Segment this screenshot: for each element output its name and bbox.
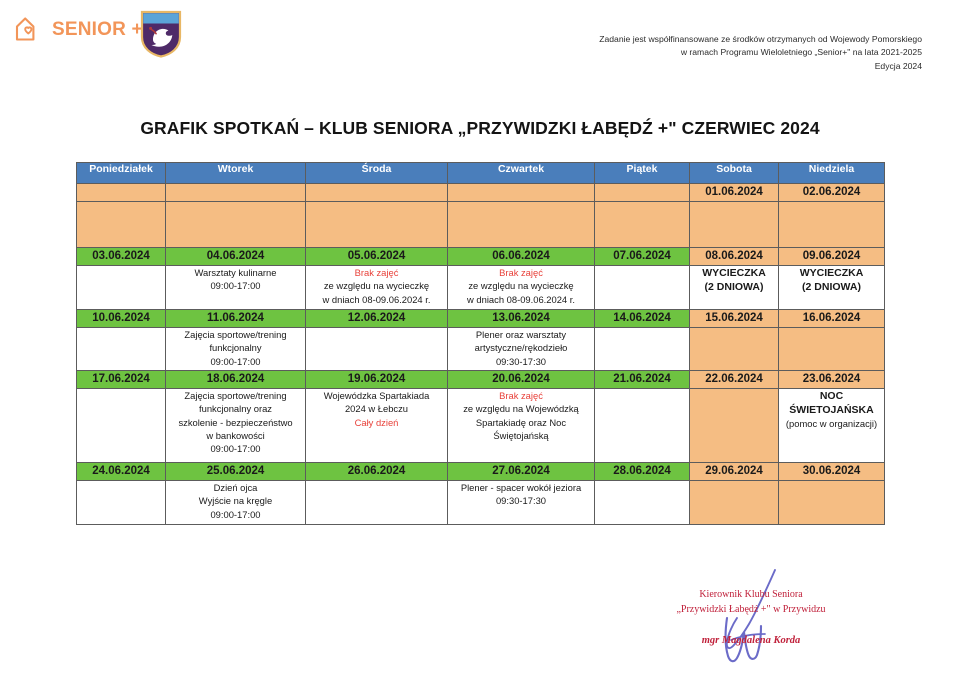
event-line: (2 DNIOWA) — [779, 280, 884, 294]
date-cell: 05.06.2024 — [306, 248, 448, 266]
signature-name: mgr Magdalena Korda — [596, 635, 906, 646]
date-cell: 28.06.2024 — [595, 463, 690, 481]
date-cell: 26.06.2024 — [306, 463, 448, 481]
event-line: WYCIECZKA — [690, 266, 778, 280]
event-cell — [77, 481, 166, 525]
event-line: Plener - spacer wokół jeziora — [448, 481, 594, 494]
date-cell: 06.06.2024 — [448, 248, 595, 266]
event-cell: Zajęcia sportowe/treningfunkcjonalny ora… — [166, 389, 306, 463]
event-cell — [779, 481, 885, 525]
week-date-row: 10.06.202411.06.202412.06.202413.06.2024… — [77, 310, 885, 328]
event-line: ŚWIETOJAŃSKA — [779, 403, 884, 417]
event-line: w dniach 08-09.06.2024 r. — [448, 293, 594, 306]
event-line: Brak zajęć — [306, 266, 447, 279]
brand-label: SENIOR + — [52, 20, 143, 39]
page-title: GRAFIK SPOTKAŃ – KLUB SENIORA „PRZYWIDZK… — [0, 118, 960, 139]
event-cell — [306, 481, 448, 525]
event-line: (pomoc w organizacji) — [779, 417, 884, 430]
column-header-niedziela: Niedziela — [779, 163, 885, 184]
event-cell — [77, 202, 166, 248]
handwritten-signature-icon — [671, 566, 841, 674]
event-line: w bankowości — [166, 429, 305, 442]
date-cell: 16.06.2024 — [779, 310, 885, 328]
date-cell: 03.06.2024 — [77, 248, 166, 266]
week-content-row: Dzień ojcaWyjście na kręgle09:00-17:00Pl… — [77, 481, 885, 525]
house-heart-icon — [12, 12, 46, 46]
event-line: Brak zajęć — [448, 266, 594, 279]
event-cell: NOCŚWIETOJAŃSKA(pomoc w organizacji) — [779, 389, 885, 463]
event-cell — [690, 389, 779, 463]
event-line: 09:30-17:30 — [448, 355, 594, 368]
date-cell: 08.06.2024 — [690, 248, 779, 266]
week-date-row: 03.06.202404.06.202405.06.202406.06.2024… — [77, 248, 885, 266]
event-line: ze względu na wycieczkę — [448, 279, 594, 292]
event-cell — [595, 202, 690, 248]
event-line: NOC — [779, 389, 884, 403]
event-line: Spartakiadę oraz Noc — [448, 416, 594, 429]
week-content-row — [77, 202, 885, 248]
event-line: w dniach 08-09.06.2024 r. — [306, 293, 447, 306]
event-cell — [77, 266, 166, 310]
funding-line-1: Zadanie jest współfinansowane ze środków… — [532, 33, 922, 46]
column-header-poniedziałek: Poniedziałek — [77, 163, 166, 184]
event-cell: WYCIECZKA(2 DNIOWA) — [779, 266, 885, 310]
event-line: Dzień ojca — [166, 481, 305, 494]
event-cell — [77, 389, 166, 463]
event-line: Cały dzień — [306, 416, 447, 429]
week-date-row: 01.06.202402.06.2024 — [77, 184, 885, 202]
event-line: artystyczne/rękodzieło — [448, 341, 594, 354]
event-line: Plener oraz warsztaty — [448, 328, 594, 341]
week-date-row: 17.06.202418.06.202419.06.202420.06.2024… — [77, 371, 885, 389]
event-cell — [595, 389, 690, 463]
date-cell — [306, 184, 448, 202]
event-cell: Brak zajęćze względu na wycieczkęw dniac… — [448, 266, 595, 310]
date-cell: 10.06.2024 — [77, 310, 166, 328]
date-cell: 14.06.2024 — [595, 310, 690, 328]
funding-line-3: Edycja 2024 — [532, 60, 922, 73]
schedule-table-wrapper: PoniedziałekWtorekŚrodaCzwartekPiątekSob… — [76, 162, 884, 525]
week-date-row: 24.06.202425.06.202426.06.202427.06.2024… — [77, 463, 885, 481]
date-cell: 30.06.2024 — [779, 463, 885, 481]
event-cell — [306, 328, 448, 371]
date-cell — [166, 184, 306, 202]
funding-statement: Zadanie jest współfinansowane ze środków… — [532, 33, 922, 73]
event-cell — [690, 328, 779, 371]
signature-role-line-1: Kierownik Klubu Seniora — [596, 588, 906, 603]
event-cell — [779, 202, 885, 248]
date-cell: 25.06.2024 — [166, 463, 306, 481]
date-cell: 11.06.2024 — [166, 310, 306, 328]
date-cell: 02.06.2024 — [779, 184, 885, 202]
event-cell: WYCIECZKA(2 DNIOWA) — [690, 266, 779, 310]
event-cell: Plener oraz warsztatyartystyczne/rękodzi… — [448, 328, 595, 371]
date-cell — [448, 184, 595, 202]
event-cell — [690, 481, 779, 525]
date-cell: 18.06.2024 — [166, 371, 306, 389]
event-line: 09:00-17:00 — [166, 355, 305, 368]
date-cell: 01.06.2024 — [690, 184, 779, 202]
date-cell: 24.06.2024 — [77, 463, 166, 481]
event-line: Zajęcia sportowe/trening — [166, 328, 305, 341]
event-line: funkcjonalny — [166, 341, 305, 354]
date-cell: 12.06.2024 — [306, 310, 448, 328]
event-cell — [306, 202, 448, 248]
senior-plus-logo: SENIOR + — [12, 12, 143, 46]
event-cell: Plener - spacer wokół jeziora09:30-17:30 — [448, 481, 595, 525]
event-cell — [595, 266, 690, 310]
signature-role: Kierownik Klubu Seniora „Przywidzki Łabę… — [596, 588, 906, 617]
signature-block: Kierownik Klubu Seniora „Przywidzki Łabę… — [596, 580, 906, 670]
event-line: 2024 w Łebczu — [306, 402, 447, 415]
date-cell: 19.06.2024 — [306, 371, 448, 389]
event-line: 09:00-17:00 — [166, 508, 305, 521]
table-header-row: PoniedziałekWtorekŚrodaCzwartekPiątekSob… — [77, 163, 885, 184]
table-body: 01.06.202402.06.202403.06.202404.06.2024… — [77, 184, 885, 525]
date-cell — [595, 184, 690, 202]
event-line: Warsztaty kulinarne — [166, 266, 305, 279]
event-cell: Brak zajęćze względu na wycieczkęw dniac… — [306, 266, 448, 310]
event-cell — [595, 328, 690, 371]
event-cell — [448, 202, 595, 248]
event-cell: Dzień ojcaWyjście na kręgle09:00-17:00 — [166, 481, 306, 525]
column-header-wtorek: Wtorek — [166, 163, 306, 184]
funding-line-2: w ramach Programu Wieloletniego „Senior+… — [532, 46, 922, 59]
event-line: ze względu na Wojewódzką — [448, 402, 594, 415]
event-line: funkcjonalny oraz — [166, 402, 305, 415]
event-line: Brak zajęć — [448, 389, 594, 402]
event-cell — [77, 328, 166, 371]
table-head: PoniedziałekWtorekŚrodaCzwartekPiątekSob… — [77, 163, 885, 184]
date-cell: 27.06.2024 — [448, 463, 595, 481]
event-line: szkolenie - bezpieczeństwo — [166, 416, 305, 429]
column-header-czwartek: Czwartek — [448, 163, 595, 184]
column-header-piątek: Piątek — [595, 163, 690, 184]
przywidz-coat-of-arms-swan-icon — [139, 9, 183, 59]
event-line: 09:00-17:00 — [166, 442, 305, 455]
date-cell: 07.06.2024 — [595, 248, 690, 266]
date-cell — [77, 184, 166, 202]
column-header-sobota: Sobota — [690, 163, 779, 184]
event-cell: Wojewódzka Spartakiada2024 w ŁebczuCały … — [306, 389, 448, 463]
event-cell: Zajęcia sportowe/treningfunkcjonalny09:0… — [166, 328, 306, 371]
event-line: Wyjście na kręgle — [166, 494, 305, 507]
event-cell — [690, 202, 779, 248]
event-line: WYCIECZKA — [779, 266, 884, 280]
week-content-row: Zajęcia sportowe/treningfunkcjonalny ora… — [77, 389, 885, 463]
date-cell: 04.06.2024 — [166, 248, 306, 266]
event-line: Świętojańską — [448, 429, 594, 442]
event-cell — [779, 328, 885, 371]
event-line: 09:30-17:30 — [448, 494, 594, 507]
column-header-środa: Środa — [306, 163, 448, 184]
date-cell: 21.06.2024 — [595, 371, 690, 389]
event-cell — [595, 481, 690, 525]
event-line: Zajęcia sportowe/trening — [166, 389, 305, 402]
document-header: SENIOR + Zadanie jest współfinansowane z… — [0, 0, 960, 95]
schedule-table: PoniedziałekWtorekŚrodaCzwartekPiątekSob… — [76, 162, 885, 525]
event-cell — [166, 202, 306, 248]
document-page: SENIOR + Zadanie jest współfinansowane z… — [0, 0, 960, 671]
date-cell: 29.06.2024 — [690, 463, 779, 481]
event-cell: Warsztaty kulinarne09:00-17:00 — [166, 266, 306, 310]
date-cell: 15.06.2024 — [690, 310, 779, 328]
date-cell: 13.06.2024 — [448, 310, 595, 328]
event-line: (2 DNIOWA) — [690, 280, 778, 294]
date-cell: 09.06.2024 — [779, 248, 885, 266]
date-cell: 23.06.2024 — [779, 371, 885, 389]
date-cell: 17.06.2024 — [77, 371, 166, 389]
event-cell: Brak zajęćze względu na WojewódzkąSparta… — [448, 389, 595, 463]
date-cell: 20.06.2024 — [448, 371, 595, 389]
week-content-row: Zajęcia sportowe/treningfunkcjonalny09:0… — [77, 328, 885, 371]
date-cell: 22.06.2024 — [690, 371, 779, 389]
event-line: ze względu na wycieczkę — [306, 279, 447, 292]
week-content-row: Warsztaty kulinarne09:00-17:00Brak zajęć… — [77, 266, 885, 310]
signature-role-line-2: „Przywidzki Łabędź +" w Przywidzu — [596, 603, 906, 618]
event-line: 09:00-17:00 — [166, 279, 305, 292]
event-line: Wojewódzka Spartakiada — [306, 389, 447, 402]
